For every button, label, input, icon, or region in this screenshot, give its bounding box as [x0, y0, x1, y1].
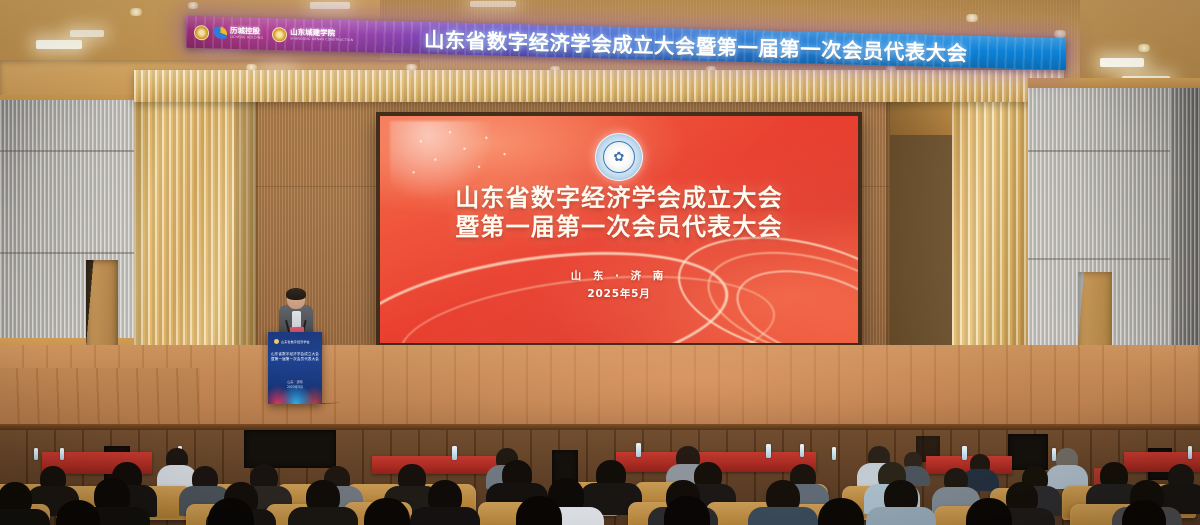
main-led-screen: ✿ 山东省数字经济学会成立大会 暨第一届第一次会员代表大会 山 东 · 济 南 … — [380, 116, 858, 343]
banner-logo-1 — [194, 25, 209, 40]
ceiling-light-panel — [310, 2, 350, 9]
screen-title-line2: 暨第一届第一次会员代表大会 — [380, 213, 858, 242]
stage-valance — [134, 70, 1064, 102]
emblem-circle-icon — [194, 25, 209, 40]
podium-logo: 山东省数字经济学会 — [274, 339, 310, 344]
screen-title-line1: 山东省数字经济学会成立大会 — [380, 184, 858, 213]
ceiling-downlight — [964, 14, 980, 22]
banner-logo-3: 山东城建学院 SHANDONG URBAN CONSTRUCTION — [272, 27, 353, 44]
emblem-circle-icon — [274, 339, 279, 344]
ceiling-downlight — [128, 8, 144, 16]
speaker-podium: 山东省数字经济学会 山东省数字经济学会成立大会 暨第一届第一次会员代表大会 山东… — [268, 332, 322, 404]
association-emblem-icon: ✿ — [595, 133, 643, 181]
podium-led-accent — [268, 382, 322, 404]
ceiling-downlight — [1052, 30, 1068, 38]
banner-logo-3-sublabel: SHANDONG URBAN CONSTRUCTION — [290, 36, 353, 42]
emblem-inner-glyph: ✿ — [603, 141, 635, 173]
ceiling-light-panel — [1100, 58, 1144, 67]
podium-logo-label: 山东省数字经济学会 — [281, 339, 310, 344]
banner-logo-2: 历城控股 LICHENG HOLDING — [214, 27, 263, 40]
screen-subtitle-date: 2025年5月 — [380, 286, 858, 301]
screen-subtitle-location: 山 东 · 济 南 — [380, 268, 858, 283]
wall-seam — [0, 150, 150, 152]
presenter-hair — [286, 288, 306, 300]
led-screen-frame: ✿ 山东省数字经济学会成立大会 暨第一届第一次会员代表大会 山 东 · 济 南 … — [376, 112, 862, 347]
swoosh-logo-icon — [214, 27, 227, 39]
ceiling-downlight — [186, 2, 200, 9]
emblem-circle-icon — [272, 27, 287, 42]
banner-logo-2-sublabel: LICHENG HOLDING — [230, 35, 263, 40]
ceiling-downlight — [1136, 44, 1152, 52]
ceiling-light-panel — [470, 1, 516, 7]
podium-title-group: 山东省数字经济学会成立大会 暨第一届第一次会员代表大会 — [268, 352, 322, 362]
seated-audience — [0, 440, 1200, 525]
wall-seam — [0, 252, 150, 254]
auditorium-photo: 历城控股 LICHENG HOLDING 山东城建学院 SHANDONG URB… — [0, 0, 1200, 525]
right-wall-corner-panel — [1170, 88, 1200, 378]
ceiling-light-panel — [70, 30, 104, 37]
screen-subtitle-group: 山 东 · 济 南 2025年5月 — [380, 268, 858, 301]
stage-floor-left-wing — [0, 368, 200, 430]
banner-logo-group: 历城控股 LICHENG HOLDING 山东城建学院 SHANDONG URB… — [194, 16, 353, 52]
podium-title-line2: 暨第一届第一次会员代表大会 — [268, 357, 322, 362]
screen-title-group: 山东省数字经济学会成立大会 暨第一届第一次会员代表大会 — [380, 184, 858, 243]
ceiling-light-panel — [36, 40, 82, 49]
